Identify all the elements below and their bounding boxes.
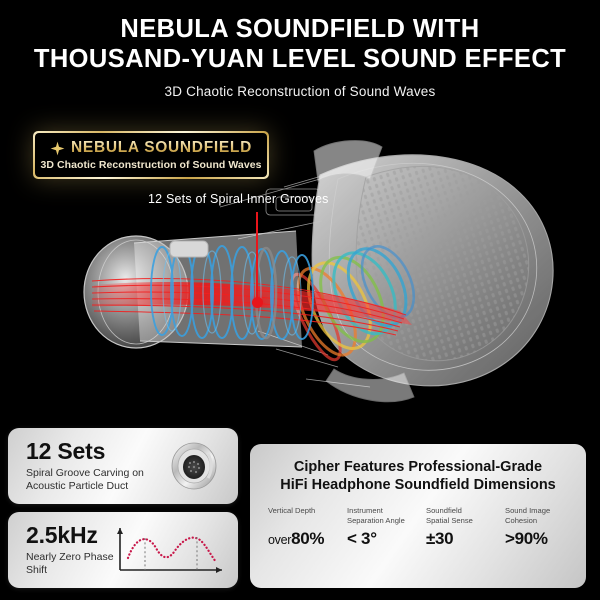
spec-label: Sound Image Cohesion <box>505 506 576 525</box>
spec-label-line-2: Spatial Sense <box>426 516 473 525</box>
badge-inner: NEBULA SOUNDFIELD 3D Chaotic Reconstruct… <box>35 133 267 177</box>
spec-value-number: ±30 <box>426 529 453 548</box>
spec-value-number: < 3° <box>347 529 377 548</box>
card-phase-shift: 2.5kHz Nearly Zero Phase Shift <box>8 512 238 588</box>
spec-vertical-depth: Vertical Depth over80% <box>260 506 339 549</box>
spec-value-number: 80% <box>291 529 324 548</box>
card-phase-shift-value: 2.5kHz <box>26 523 114 548</box>
title-line-1: NEBULA SOUNDFIELD WITH <box>120 15 479 43</box>
card-phase-shift-text: 2.5kHz Nearly Zero Phase Shift <box>26 523 114 576</box>
card-spiral-groove-value: 12 Sets <box>26 439 144 464</box>
badge-title-row: NEBULA SOUNDFIELD <box>50 139 252 157</box>
nozzle-photo <box>164 436 224 496</box>
badge-title: NEBULA SOUNDFIELD <box>71 139 252 157</box>
spec-label-line-2: Cohesion <box>505 516 537 525</box>
spec-list: Vertical Depth over80% Instrument Separa… <box>260 506 576 549</box>
spec-label: Vertical Depth <box>268 506 339 525</box>
nebula-soundfield-badge: NEBULA SOUNDFIELD 3D Chaotic Reconstruct… <box>33 131 269 179</box>
callout-pointer-dot <box>252 297 263 308</box>
panel-title-line-2: HiFi Headphone Soundfield Dimensions <box>280 477 556 493</box>
spec-value-prefix: over <box>268 533 291 547</box>
page-title: NEBULA SOUNDFIELD WITH THOUSAND-YUAN LEV… <box>0 14 600 74</box>
spec-label-line-1: Instrument <box>347 506 383 515</box>
phase-wave-chart <box>110 524 228 578</box>
spec-label: Instrument Separation Angle <box>347 506 418 525</box>
header-block: NEBULA SOUNDFIELD WITH THOUSAND-YUAN LEV… <box>0 14 600 99</box>
spec-value: < 3° <box>347 529 418 549</box>
desc-line-1: Spiral Groove Carving on <box>26 467 144 479</box>
desc-line-2: Acoustic Particle Duct <box>26 480 128 492</box>
spec-instrument-separation-angle: Instrument Separation Angle < 3° <box>339 506 418 549</box>
spec-sound-image-cohesion: Sound Image Cohesion >90% <box>497 506 576 549</box>
soundfield-dimensions-panel: Cipher Features Professional-Grade HiFi … <box>250 444 586 588</box>
panel-title-line-1: Cipher Features Professional-Grade <box>294 459 542 475</box>
spec-value: over80% <box>268 529 339 549</box>
title-line-2: THOUSAND-YUAN LEVEL SOUND EFFECT <box>34 45 566 73</box>
badge-subtitle: 3D Chaotic Reconstruction of Sound Waves <box>41 159 262 171</box>
spec-label-line-1: Sound Image <box>505 506 550 515</box>
desc-line-1: Nearly Zero Phase <box>26 551 114 563</box>
card-spiral-groove: 12 Sets Spiral Groove Carving on Acousti… <box>8 428 238 504</box>
spec-label: Soundfield Spatial Sense <box>426 506 497 525</box>
spec-value: ±30 <box>426 529 497 549</box>
page-subtitle: 3D Chaotic Reconstruction of Sound Waves <box>0 84 600 99</box>
card-spiral-groove-text: 12 Sets Spiral Groove Carving on Acousti… <box>26 439 144 492</box>
spec-value: >90% <box>505 529 576 549</box>
card-phase-shift-description: Nearly Zero Phase Shift <box>26 551 114 576</box>
spec-value-number: >90% <box>505 529 548 548</box>
spec-label-line-2: Separation Angle <box>347 516 405 525</box>
desc-line-2: Shift <box>26 564 47 576</box>
spec-label-line-1: Soundfield <box>426 506 462 515</box>
spec-label-line-1: Vertical Depth <box>268 506 315 515</box>
callout-pointer-line <box>256 212 258 302</box>
spec-soundfield-spatial-sense: Soundfield Spatial Sense ±30 <box>418 506 497 549</box>
card-spiral-groove-description: Spiral Groove Carving on Acoustic Partic… <box>26 467 144 492</box>
spiral-grooves-callout-label: 12 Sets of Spiral Inner Grooves <box>148 192 329 206</box>
infographic-root: NEBULA SOUNDFIELD WITH THOUSAND-YUAN LEV… <box>0 0 600 600</box>
sparkle-star-icon <box>50 141 65 156</box>
panel-title: Cipher Features Professional-Grade HiFi … <box>250 458 586 494</box>
